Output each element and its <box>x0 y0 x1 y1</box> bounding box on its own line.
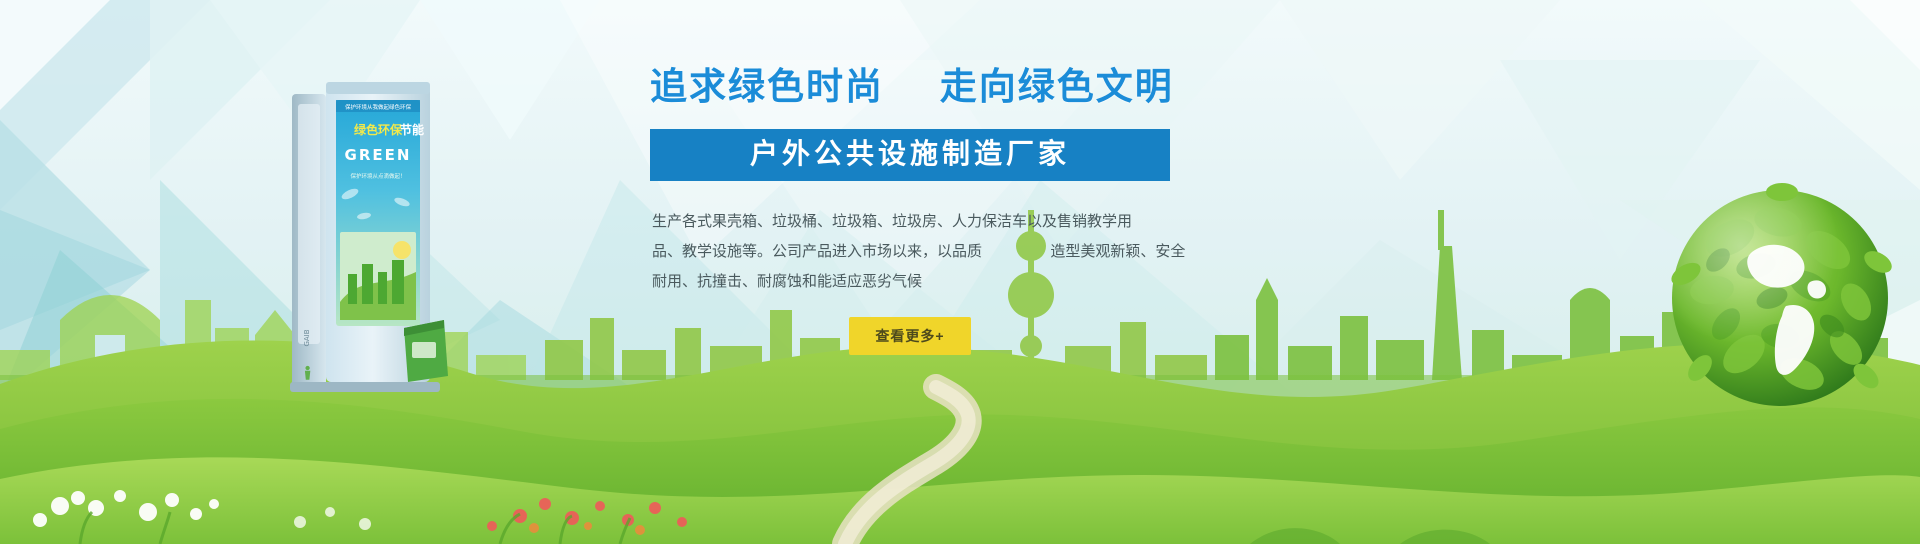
desc-line-2b: 造型美观新颖、安全 <box>1050 243 1185 260</box>
desc-line-3: 耐用、抗撞击、耐腐蚀和能适应恶劣气候 <box>652 267 1168 297</box>
svg-text:绿色环保: 绿色环保 <box>354 122 403 137</box>
headline-right: 走向绿色文明 <box>940 65 1174 108</box>
hero-banner: 保护环境从我做起绿色环保 绿色环保 节能 GREEN 保护环境从点滴做起！ <box>0 0 1920 544</box>
svg-text:节能: 节能 <box>400 122 424 137</box>
svg-text:GREEN: GREEN <box>345 146 412 164</box>
view-more-button[interactable]: 查看更多+ <box>849 317 970 355</box>
hero-copy-block: 追求绿色时尚 走向绿色文明 户外公共设施制造厂家 生产各式果壳箱、垃圾桶、垃圾箱… <box>650 66 1170 355</box>
foreground-flowers <box>0 434 1920 544</box>
svg-text:保护环境从点滴做起！: 保护环境从点滴做起！ <box>350 172 405 180</box>
subtitle-bar: 户外公共设施制造厂家 <box>650 129 1170 181</box>
desc-line-2a: 品、教学设施等。公司产品进入市场以来，以品质 <box>652 243 982 260</box>
hero-description: 生产各式果壳箱、垃圾桶、垃圾箱、垃圾房、人力保洁车以及售销教学用 品、教学设施等… <box>650 207 1170 297</box>
hero-headline: 追求绿色时尚 走向绿色文明 <box>650 66 1170 109</box>
svg-text:保护环境从我做起绿色环保: 保护环境从我做起绿色环保 <box>345 103 412 111</box>
advertising-kiosk-product: 保护环境从我做起绿色环保 绿色环保 节能 GREEN 保护环境从点滴做起！ <box>284 76 454 396</box>
leafy-earth-globe <box>1660 178 1900 418</box>
desc-line-1: 生产各式果壳箱、垃圾桶、垃圾箱、垃圾房、人力保洁车以及售销教学用 <box>652 207 1168 237</box>
headline-left: 追求绿色时尚 <box>650 65 884 108</box>
desc-line-2: 品、教学设施等。公司产品进入市场以来，以品质 造型美观新颖、安全 <box>652 237 1168 267</box>
svg-text:GAIB: GAIB <box>303 329 311 346</box>
